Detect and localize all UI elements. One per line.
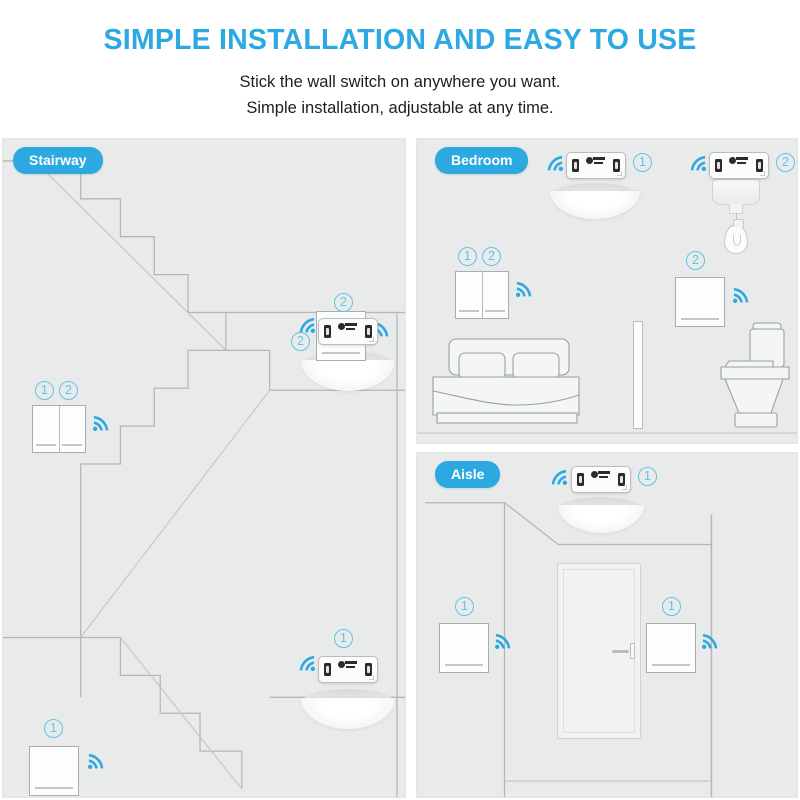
wall-switch-1gang[interactable] bbox=[439, 623, 489, 673]
scene-panel-stairway: Stairway 1 2 2 2 bbox=[2, 138, 406, 798]
interior-door[interactable] bbox=[557, 563, 641, 739]
corner-mark bbox=[617, 171, 622, 176]
wifi-signal-icon bbox=[731, 285, 751, 305]
marker-number-one: 1 bbox=[458, 247, 477, 266]
terminal-block-left bbox=[577, 473, 584, 486]
switch-gang[interactable] bbox=[647, 624, 695, 672]
switch-gang[interactable] bbox=[456, 272, 482, 318]
marker-number-one: 1 bbox=[633, 153, 652, 172]
header: SIMPLE INSTALLATION AND EASY TO USE Stic… bbox=[0, 0, 800, 130]
corner-mark bbox=[369, 675, 374, 680]
wall-switch-1gang[interactable] bbox=[29, 746, 79, 796]
panel-badge-bedroom: Bedroom bbox=[435, 147, 528, 174]
door-lock-icon bbox=[630, 643, 635, 659]
receiver-module[interactable] bbox=[709, 152, 769, 179]
terminal-block-left bbox=[324, 325, 331, 338]
panel-badge-aisle: Aisle bbox=[435, 461, 500, 488]
wall-switch-2gang[interactable] bbox=[455, 271, 509, 319]
wifi-signal-icon bbox=[493, 631, 513, 651]
door-handle-icon bbox=[612, 650, 629, 653]
marker-number-one: 1 bbox=[334, 629, 353, 648]
wifi-signal-icon bbox=[91, 413, 111, 433]
wall-divider bbox=[633, 321, 643, 429]
marker-number-two: 2 bbox=[776, 153, 795, 172]
wifi-signal-icon bbox=[297, 315, 317, 335]
wifi-signal-icon bbox=[700, 631, 720, 651]
marker-number-two: 2 bbox=[482, 247, 501, 266]
receiver-module[interactable] bbox=[318, 656, 378, 683]
antenna-icon bbox=[338, 661, 358, 667]
switch-gang[interactable] bbox=[59, 406, 86, 452]
page-title: SIMPLE INSTALLATION AND EASY TO USE bbox=[0, 0, 800, 57]
corner-mark bbox=[622, 485, 627, 490]
wifi-signal-icon bbox=[86, 751, 106, 771]
terminal-block-left bbox=[324, 663, 331, 676]
marker-number-one: 1 bbox=[638, 467, 657, 486]
wifi-signal-icon bbox=[297, 653, 317, 673]
terminal-block-left bbox=[572, 159, 579, 172]
antenna-icon bbox=[591, 471, 611, 477]
corner-mark bbox=[369, 337, 374, 342]
ceiling-lamp bbox=[301, 689, 395, 729]
scene-panel-aisle: Aisle 1 1 bbox=[416, 452, 798, 798]
wall-switch-1gang[interactable] bbox=[646, 623, 696, 673]
switch-gang[interactable] bbox=[676, 278, 724, 326]
marker-number-one: 1 bbox=[662, 597, 681, 616]
toilet-illustration bbox=[713, 321, 798, 433]
subtitle-line-1: Stick the wall switch on anywhere you wa… bbox=[0, 57, 800, 96]
marker-number-one: 1 bbox=[455, 597, 474, 616]
switch-gang[interactable] bbox=[33, 406, 59, 452]
infographic-page: SIMPLE INSTALLATION AND EASY TO USE Stic… bbox=[0, 0, 800, 800]
antenna-icon bbox=[586, 157, 606, 163]
antenna-icon bbox=[338, 323, 358, 329]
receiver-module[interactable] bbox=[566, 152, 626, 179]
marker-number-one: 1 bbox=[44, 719, 63, 738]
receiver-module[interactable] bbox=[571, 466, 631, 493]
marker-number-one: 1 bbox=[35, 381, 54, 400]
subtitle-line-2: Simple installation, adjustable at any t… bbox=[0, 96, 800, 122]
marker-number-two: 2 bbox=[686, 251, 705, 270]
wifi-signal-icon bbox=[514, 279, 534, 299]
ceiling-lamp bbox=[550, 183, 640, 219]
wifi-signal-icon bbox=[549, 467, 569, 487]
receiver-module[interactable] bbox=[318, 318, 378, 345]
panel-badge-stairway: Stairway bbox=[13, 147, 103, 174]
antenna-icon bbox=[729, 157, 749, 163]
switch-gang[interactable] bbox=[440, 624, 488, 672]
pendant-lamp bbox=[706, 179, 766, 259]
wifi-signal-icon bbox=[688, 153, 708, 173]
switch-gang[interactable] bbox=[30, 747, 78, 795]
wifi-signal-icon bbox=[545, 153, 565, 173]
marker-number-two: 2 bbox=[334, 293, 353, 312]
terminal-block-left bbox=[715, 159, 722, 172]
bed-illustration bbox=[427, 335, 587, 435]
wall-switch-1gang[interactable] bbox=[675, 277, 725, 327]
corner-mark bbox=[760, 171, 765, 176]
wall-switch-2gang[interactable] bbox=[32, 405, 86, 453]
ceiling-lamp bbox=[558, 497, 644, 533]
switch-gang[interactable] bbox=[482, 272, 509, 318]
scene-panel-bedroom: Bedroom 1 bbox=[416, 138, 798, 444]
marker-number-two: 2 bbox=[59, 381, 78, 400]
